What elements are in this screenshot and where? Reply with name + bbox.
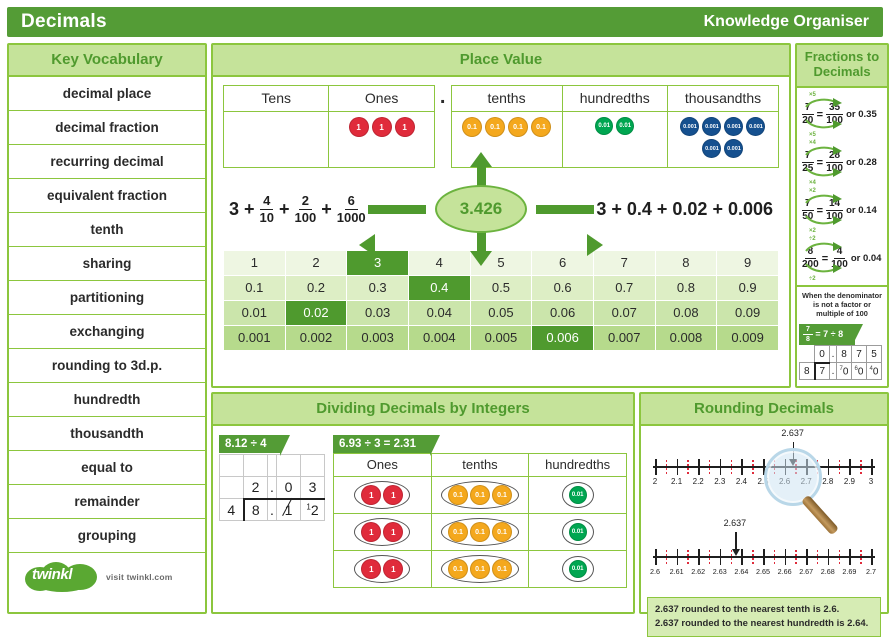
pv-col-thousandths: thousandths — [667, 86, 778, 112]
counter-model-tab: 6.93 ÷ 3 = 2.31 — [333, 435, 430, 453]
gattegno-cell[interactable]: 0.05 — [470, 301, 532, 326]
number-line-midpoint-tick — [731, 460, 732, 474]
counter-tenths: 0.1 — [470, 485, 490, 505]
number-line-midpoint-tick — [709, 550, 710, 564]
gattegno-row: 0.0010.0020.0030.0040.0050.0060.0070.008… — [224, 326, 779, 351]
bus-stop-dividend-row: 48.112 — [220, 499, 325, 521]
bus-stop-blank-row — [220, 455, 325, 477]
counter-ones: 1 — [383, 522, 403, 542]
place-value-counter-hundredths: 0.01 — [595, 117, 613, 135]
number-line-midpoint-tick — [709, 460, 710, 474]
number-line-label: 2.64 — [734, 567, 748, 576]
number-line-label: 2.8 — [822, 477, 833, 486]
gattegno-cell[interactable]: 9 — [717, 251, 779, 276]
number-line-label: 2.68 — [821, 567, 835, 576]
number-line-midpoint-tick — [839, 550, 840, 564]
short-division-quotient-digit: 7 — [852, 346, 867, 363]
bus-stop-quotient-row: 2.03 — [220, 477, 325, 499]
gattegno-cell[interactable]: 0.4 — [408, 276, 470, 301]
place-value-counter-tenths: 0.1 — [485, 117, 505, 137]
rounding-summary-note: 2.637 rounded to the nearest tenth is 2.… — [647, 597, 881, 637]
number-line-midpoint-tick — [839, 460, 840, 474]
dividing-decimals-panel: Dividing Decimals by Integers 8.12 ÷ 4 2… — [211, 392, 635, 614]
decimal-equivalent-label: or 0.28 — [846, 157, 877, 168]
vocab-item-sharing: sharing — [9, 247, 205, 281]
rounding-note-hundredth: 2.637 rounded to the nearest hundredth i… — [655, 617, 873, 631]
number-line-tick — [720, 549, 722, 565]
number-line-label: 2.3 — [714, 477, 725, 486]
number-line-tick — [741, 549, 743, 565]
counter-model-cell-ones: 11 — [334, 551, 432, 588]
arrow-down-head-icon — [470, 251, 492, 266]
number-line-tick — [828, 549, 830, 565]
rounding-decimals-title: Rounding Decimals — [641, 394, 887, 426]
gattegno-cell[interactable]: 0.06 — [532, 301, 594, 326]
gattegno-cell[interactable]: 0.8 — [655, 276, 717, 301]
place-value-counter-thousandths: 0.001 — [702, 139, 721, 158]
bus-stop-dividend-digit: 8 — [244, 499, 268, 521]
vocab-item-thousandth: thousandth — [9, 417, 205, 451]
vocab-item-recurring-decimal: recurring decimal — [9, 145, 205, 179]
number-line-label: 2.1 — [671, 477, 682, 486]
counter-model-header-row: Onestenthshundredths — [334, 454, 627, 477]
gattegno-cell[interactable]: 0.2 — [285, 276, 347, 301]
bus-stop-quotient-digit: . — [268, 477, 277, 499]
number-line-tick — [698, 459, 700, 475]
gattegno-cell[interactable]: 0.001 — [224, 326, 286, 351]
counter-model-cell-hundredths: 0.01 — [529, 551, 627, 588]
number-line-midpoint-tick — [817, 550, 818, 564]
decimal-bubble-group: 3.426 — [366, 168, 596, 250]
fractions-to-decimals-title: Fractions to Decimals — [797, 45, 887, 88]
twinkl-visit-text: visit twinkl.com — [106, 572, 173, 582]
counter-tenths: 0.1 — [448, 485, 468, 505]
counter-model-row: 110.10.10.10.01 — [334, 551, 627, 588]
number-line-label: 2.66 — [778, 567, 792, 576]
bus-stop-exchanged-digit: 1 — [277, 499, 301, 521]
fraction-expansion: 3 + 4 10 + 2 100 + 6 1000 — [229, 194, 366, 224]
arrow-up-head-icon — [470, 152, 492, 167]
place-value-counter-tenths: 0.1 — [531, 117, 551, 137]
gattegno-cell[interactable]: 0.07 — [593, 301, 655, 326]
place-value-counter-hundredths: 0.01 — [616, 117, 634, 135]
number-line-tick — [698, 549, 700, 565]
number-line-label: 2.69 — [842, 567, 856, 576]
vocab-item-grouping: grouping — [9, 519, 205, 553]
place-value-counter-thousandths: 0.001 — [724, 139, 743, 158]
vocab-item-equivalent-fraction: equivalent fraction — [9, 179, 205, 213]
decimal-equivalent-label: or 0.14 — [846, 205, 877, 216]
counter-group-ones: 11 — [354, 518, 410, 546]
number-line-label: 2.63 — [713, 567, 727, 576]
gattegno-cell[interactable]: 0.002 — [285, 326, 347, 351]
counter-model-cell-tenths: 0.10.10.1 — [431, 551, 529, 588]
gattegno-cell[interactable]: 0.009 — [717, 326, 779, 351]
gattegno-chart: 1234567890.10.20.30.40.50.60.70.80.90.01… — [223, 250, 779, 351]
page-header: Decimals Knowledge Organiser — [7, 7, 883, 37]
place-value-counter-tenths: 0.1 — [462, 117, 482, 137]
counter-model-cell-tenths: 0.10.10.1 — [431, 477, 529, 514]
gattegno-row: 0.10.20.30.40.50.60.70.80.9 — [224, 276, 779, 301]
number-line-label: 2.7 — [866, 567, 876, 576]
gattegno-cell[interactable]: 8 — [655, 251, 717, 276]
page-title: Decimals — [21, 11, 107, 33]
number-line-label: 2.4 — [736, 477, 747, 486]
counter-group-ones: 11 — [354, 481, 410, 509]
fraction-conversion-row: ÷28200=4100or 0.04÷2 — [799, 235, 885, 283]
gattegno-cell[interactable]: 0.5 — [470, 276, 532, 301]
rounding-note-tenth: 2.637 rounded to the nearest tenth is 2.… — [655, 603, 873, 617]
twinkl-branding: twinkl visit twinkl.com — [9, 553, 205, 601]
counter-model-cell-ones: 11 — [334, 514, 432, 551]
number-line-midpoint-tick — [860, 550, 861, 564]
number-line-label: 2.61 — [670, 567, 684, 576]
gattegno-cell[interactable]: 2 — [285, 251, 347, 276]
decimal-value-bubble: 3.426 — [435, 185, 527, 233]
counter-ones: 1 — [361, 485, 381, 505]
fraction-conversion-row: ×5720=35100or 0.35×5 — [799, 91, 885, 139]
curved-arrow-top-icon — [803, 192, 845, 210]
number-line-marker-arrow-icon — [735, 532, 737, 550]
bus-stop-tab: 8.12 ÷ 4 — [219, 435, 280, 453]
multiplier-bottom-label: ×2 — [809, 228, 816, 234]
place-value-header-row: Tens Ones . tenths hundredths thousandth… — [224, 86, 779, 112]
number-line-midpoint-tick — [687, 550, 688, 564]
number-line-label: 2 — [653, 477, 657, 486]
short-division-dividend-digit: 60 — [852, 363, 867, 380]
counter-model-row: 110.10.10.10.01 — [334, 514, 627, 551]
vocab-item-tenth: tenth — [9, 213, 205, 247]
number-line-label: 2.62 — [691, 567, 705, 576]
gattegno-cell[interactable]: 0.09 — [717, 301, 779, 326]
gattegno-cell[interactable]: 0.01 — [224, 301, 286, 326]
counter-ones: 1 — [383, 559, 403, 579]
page-subtitle: Knowledge Organiser — [704, 13, 869, 31]
counter-model-table: Onestenthshundredths110.10.10.10.01110.1… — [333, 453, 627, 588]
decimal-equivalent-label: or 0.04 — [851, 253, 882, 264]
pv-col-tenths: tenths — [451, 86, 562, 112]
vocab-item-hundredth: hundredth — [9, 383, 205, 417]
number-line-tick — [785, 549, 787, 565]
number-line-label: 2.67 — [799, 567, 813, 576]
number-line-midpoint-tick — [752, 460, 753, 474]
number-line-tick — [677, 549, 679, 565]
short-division-dividend-digit: . — [830, 363, 837, 380]
number-line-label: 2.6 — [650, 567, 660, 576]
gattegno-row: 123456789 — [224, 251, 779, 276]
arrow-right-icon — [536, 205, 594, 214]
number-line-marker-value: 2.637 — [781, 428, 804, 438]
counter-tenths: 0.1 — [492, 485, 512, 505]
multiplier-bottom-label: ×4 — [809, 180, 816, 186]
short-division-quotient-digit: . — [830, 346, 837, 363]
number-line-tick — [763, 549, 765, 565]
place-value-chart: Tens Ones . tenths hundredths thousandth… — [223, 85, 779, 168]
vocab-item-decimal-fraction: decimal fraction — [9, 111, 205, 145]
pv-cell-tens — [224, 112, 329, 168]
counter-ones: 1 — [361, 559, 381, 579]
short-division-divisor: 8 — [800, 363, 815, 380]
number-line-label: 2.2 — [693, 477, 704, 486]
counter-tenths: 0.1 — [448, 522, 468, 542]
short-division-quotient-digit: 0 — [815, 346, 830, 363]
multiplier-bottom-label: ×5 — [809, 132, 816, 138]
gattegno-cell[interactable]: 0.03 — [347, 301, 409, 326]
rounding-decimals-panel: Rounding Decimals 22.12.22.32.42.52.62.7… — [639, 392, 889, 614]
number-line-midpoint-tick — [687, 460, 688, 474]
counter-model-cell-hundredths: 0.01 — [529, 477, 627, 514]
gattegno-cell[interactable]: 0.005 — [470, 326, 532, 351]
fraction-conversion-row: ×2750=14100or 0.14×2 — [799, 187, 885, 235]
gattegno-cell[interactable]: 0.04 — [408, 301, 470, 326]
counter-group-tenths: 0.10.10.1 — [441, 481, 519, 509]
vocab-item-partitioning: partitioning — [9, 281, 205, 315]
counter-hundredths: 0.01 — [569, 523, 587, 541]
gattegno-cell[interactable]: 0.02 — [285, 301, 347, 326]
number-line-label: 2.9 — [844, 477, 855, 486]
twinkl-wordmark: twinkl — [32, 566, 100, 583]
gattegno-cell[interactable]: 0.007 — [593, 326, 655, 351]
number-line-tick — [655, 459, 657, 475]
twinkl-logo-icon: twinkl — [25, 562, 99, 592]
number-line-midpoint-tick — [774, 550, 775, 564]
number-line-tick — [828, 459, 830, 475]
number-line-midpoint-tick — [752, 550, 753, 564]
curved-arrow-top-icon — [803, 144, 845, 162]
pv-cell-thousandths: 0.0010.0010.0010.0010.0010.001 — [667, 112, 778, 168]
place-value-counter-thousandths: 0.001 — [746, 117, 765, 136]
decimal-equivalent-label: or 0.35 — [846, 109, 877, 120]
number-line-label: 3 — [869, 477, 873, 486]
fractions-to-decimals-list: ×5720=35100or 0.35×5×4725=28100or 0.28×4… — [797, 88, 887, 283]
gattegno-cell[interactable]: 6 — [532, 251, 594, 276]
number-line-tick — [871, 459, 873, 475]
counter-group-hundredths: 0.01 — [562, 556, 594, 582]
place-value-counter-thousandths: 0.001 — [724, 117, 743, 136]
pv-cell-spacer — [434, 112, 451, 168]
gattegno-cell[interactable]: 0.006 — [532, 326, 594, 351]
number-line-hundredths: 2.62.612.622.632.642.652.662.672.682.692… — [647, 530, 881, 582]
key-vocabulary-list: decimal placedecimal fractionrecurring d… — [9, 77, 205, 553]
number-line-midpoint-tick — [795, 550, 796, 564]
gattegno-cell[interactable]: 0.7 — [593, 276, 655, 301]
bus-stop-dividend-digit: 12 — [301, 499, 325, 521]
vocab-item-rounding-to-3d-p: rounding to 3d.p. — [9, 349, 205, 383]
number-line-tick — [849, 459, 851, 475]
counter-group-hundredths: 0.01 — [562, 482, 594, 508]
dividing-decimals-title: Dividing Decimals by Integers — [213, 394, 633, 426]
key-vocabulary-title: Key Vocabulary — [9, 45, 205, 77]
counter-tenths: 0.1 — [470, 522, 490, 542]
fractions-to-decimals-panel: Fractions to Decimals ×5720=35100or 0.35… — [795, 43, 889, 388]
fraction-conversion-row: ×4725=28100or 0.28×4 — [799, 139, 885, 187]
bus-stop-divisor: 4 — [220, 499, 244, 521]
fractions-to-decimals-note: When the denominator is not a factor or … — [797, 285, 887, 322]
counter-hundredths: 0.01 — [569, 486, 587, 504]
counter-group-hundredths: 0.01 — [562, 519, 594, 545]
short-division-tab: 7 8 = 7 ÷ 8 — [799, 324, 855, 346]
short-division-quotient-digit: 5 — [867, 346, 882, 363]
vocab-item-decimal-place: decimal place — [9, 77, 205, 111]
short-division-dividend-digit: 70 — [837, 363, 852, 380]
pv-decimal-point: . — [434, 86, 451, 112]
counter-tenths: 0.1 — [492, 522, 512, 542]
number-line-tick — [849, 549, 851, 565]
knowledge-organiser-poster: Decimals Knowledge Organiser Key Vocabul… — [0, 0, 890, 615]
counter-tenths: 0.1 — [448, 559, 468, 579]
number-line-label: 2.65 — [756, 567, 770, 576]
bus-stop-method: 8.12 ÷ 4 2.0348.112 — [219, 434, 325, 588]
pv-cell-hundredths: 0.010.01 — [562, 112, 667, 168]
fraction-term-tenths: 4 10 — [260, 194, 274, 224]
number-line-tick — [720, 459, 722, 475]
fraction-term-thousandths: 6 1000 — [337, 194, 366, 224]
counter-model-column-hundredths: hundredths — [529, 454, 627, 477]
counter-model-cell-ones: 11 — [334, 477, 432, 514]
number-line-tick — [806, 549, 808, 565]
counter-model-cell-tenths: 0.10.10.1 — [431, 514, 529, 551]
fraction-term-hundredths: 2 100 — [295, 194, 317, 224]
number-line-tick — [871, 549, 873, 565]
number-line-tick — [655, 549, 657, 565]
bus-stop-decimal-point: . — [268, 499, 277, 521]
number-line-midpoint-tick — [666, 550, 667, 564]
vocab-item-equal-to: equal to — [9, 451, 205, 485]
place-value-title: Place Value — [213, 45, 789, 77]
counter-ones: 1 — [383, 485, 403, 505]
place-value-counter-ones: 1 — [372, 117, 392, 137]
number-line-tick — [677, 459, 679, 475]
short-division-quotient-digit: 8 — [837, 346, 852, 363]
bus-stop-quotient-digit: 0 — [277, 477, 301, 499]
gattegno-cell[interactable]: 3 — [347, 251, 409, 276]
number-line-midpoint-tick — [666, 460, 667, 474]
key-vocabulary-panel: Key Vocabulary decimal placedecimal frac… — [7, 43, 207, 614]
gattegno-cell[interactable]: 0.004 — [408, 326, 470, 351]
pv-col-tens: Tens — [224, 86, 329, 112]
place-value-counter-tenths: 0.1 — [508, 117, 528, 137]
gattegno-cell[interactable]: 0.003 — [347, 326, 409, 351]
number-line-midpoint-tick — [860, 460, 861, 474]
counter-tenths: 0.1 — [492, 559, 512, 579]
gattegno-cell[interactable]: 0.3 — [347, 276, 409, 301]
bus-stop-table: 2.0348.112 — [219, 454, 325, 521]
gattegno-cell[interactable]: 4 — [408, 251, 470, 276]
short-division-tab-label: = 7 ÷ 8 — [815, 329, 843, 339]
short-division-dividend-digit: 40 — [867, 363, 882, 380]
pv-cell-ones: 111 — [329, 112, 434, 168]
counter-model-column-ones: Ones — [334, 454, 432, 477]
pv-col-hundredths: hundredths — [562, 86, 667, 112]
number-line-tick — [741, 459, 743, 475]
decimal-expansion-row: 3 + 4 10 + 2 100 + 6 1000 — [223, 168, 779, 250]
counter-group-ones: 11 — [354, 555, 410, 583]
counter-ones: 1 — [361, 522, 381, 542]
short-division-dividend-row: 87.706040 — [800, 363, 882, 380]
arrow-left-icon — [368, 205, 426, 214]
place-value-counter-row: 111 0.10.10.10.1 0.010.01 0.0010.0010.00… — [224, 112, 779, 168]
pv-cell-tenths: 0.10.10.10.1 — [451, 112, 562, 168]
gattegno-cell[interactable]: 0.6 — [532, 276, 594, 301]
place-value-counter-thousandths: 0.001 — [680, 117, 699, 136]
number-line-marker-value: 2.637 — [724, 518, 747, 528]
decimal-expansion: 3 + 0.4 + 0.02 + 0.006 — [596, 199, 773, 220]
place-value-panel: Place Value Tens Ones . tenths hundredth… — [211, 43, 791, 388]
counter-group-tenths: 0.10.10.1 — [441, 518, 519, 546]
fraction-expansion-whole: 3 — [229, 199, 239, 220]
counter-model-cell-hundredths: 0.01 — [529, 514, 627, 551]
pv-col-ones: Ones — [329, 86, 434, 112]
vocab-item-remainder: remainder — [9, 485, 205, 519]
gattegno-cell[interactable]: 0.9 — [717, 276, 779, 301]
bus-stop-quotient-digit: 2 — [244, 477, 268, 499]
magnifier-icon — [764, 448, 822, 506]
multiplier-bottom-label: ÷2 — [809, 276, 816, 282]
vocab-item-exchanging: exchanging — [9, 315, 205, 349]
short-division-box: 0.87587.706040 — [799, 345, 882, 380]
gattegno-cell[interactable]: 0.08 — [655, 301, 717, 326]
curved-arrow-top-icon — [803, 96, 845, 114]
counter-model-row: 110.10.10.10.01 — [334, 477, 627, 514]
counter-group-tenths: 0.10.10.1 — [441, 555, 519, 583]
place-value-counter-ones: 1 — [395, 117, 415, 137]
gattegno-cell[interactable]: 0.008 — [655, 326, 717, 351]
place-value-counter-ones: 1 — [349, 117, 369, 137]
gattegno-row: 0.010.020.030.040.050.060.070.080.09 — [224, 301, 779, 326]
counter-hundredths: 0.01 — [569, 560, 587, 578]
place-value-counter-thousandths: 0.001 — [702, 117, 721, 136]
short-division-dividend-digit: 7 — [815, 363, 830, 380]
counter-model-column-tenths: tenths — [431, 454, 529, 477]
curved-arrow-top-icon — [803, 240, 845, 258]
counter-division-model: 6.93 ÷ 3 = 2.31 Onestenthshundredths110.… — [333, 434, 627, 588]
short-division-quotient-row: 0.875 — [800, 346, 882, 363]
bus-stop-quotient-digit: 3 — [301, 477, 325, 499]
gattegno-cell[interactable]: 1 — [224, 251, 286, 276]
counter-tenths: 0.1 — [470, 559, 490, 579]
gattegno-cell[interactable]: 0.1 — [224, 276, 286, 301]
